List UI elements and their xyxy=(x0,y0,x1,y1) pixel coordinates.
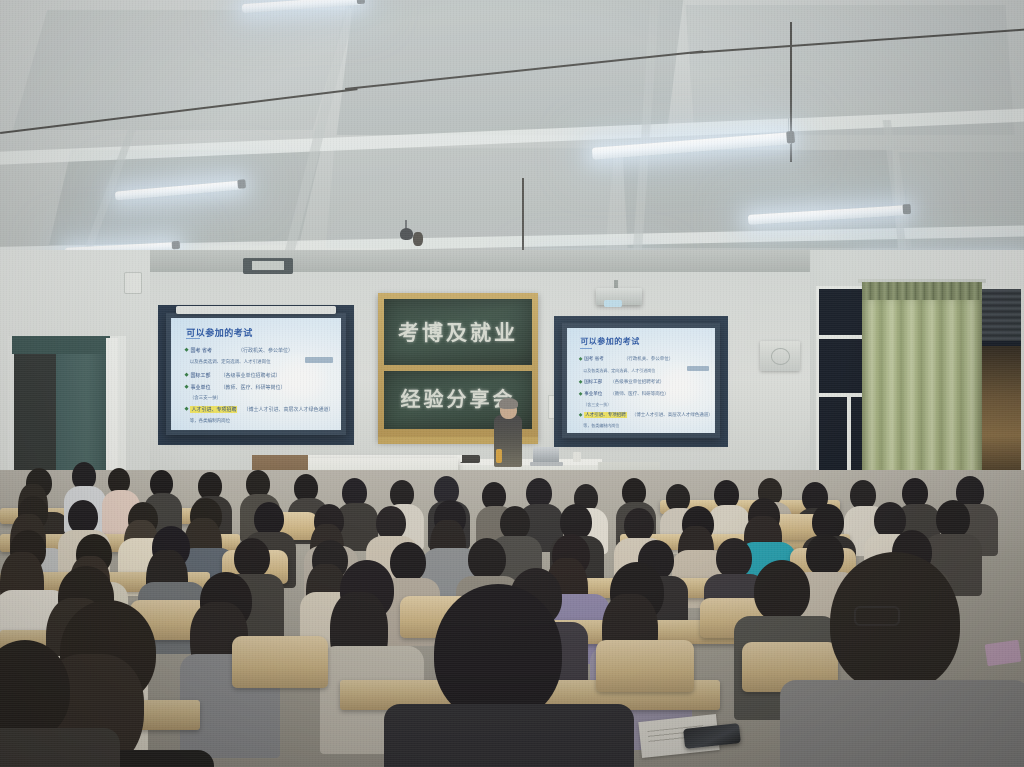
av-equipment-panel xyxy=(252,261,284,270)
presenter-hair xyxy=(499,398,518,409)
left-slide-bullet-2: 以及各类选调、定向选调、人才引进岗位 xyxy=(190,359,271,365)
left-slide-bullet-3: ◆国标工部 （各级事业单位招聘考试） xyxy=(185,372,281,379)
laptop-icon[interactable] xyxy=(533,447,559,463)
glasses-icon xyxy=(854,606,900,626)
desk-device xyxy=(460,455,480,463)
left-slide-bullet-5: （含三支一扶） xyxy=(190,395,222,401)
right-slide-bullet-5: （含三支一扶） xyxy=(583,402,611,408)
bottle-icon xyxy=(496,449,502,463)
lecture-hall-photo: 考博及就业 经验分享会 可以参加的考试 ◆国考 省考 （行政机关、参公单位） 以… xyxy=(0,0,1024,767)
right-slide-bullet-6: ◆人才引进、专项招聘 （博士人才引进、高层次人才绿色通道） xyxy=(579,412,713,418)
door-header xyxy=(12,336,110,354)
chair-back[interactable] xyxy=(232,636,328,688)
laptop-base xyxy=(530,462,563,466)
left-slide-title: 可以参加的考试 xyxy=(186,326,253,339)
blackboard-top-panel: 考博及就业 xyxy=(384,299,532,365)
cup-icon xyxy=(573,452,581,462)
hanging-object xyxy=(413,232,423,246)
tablet-icon[interactable] xyxy=(985,640,1022,667)
window-blind[interactable] xyxy=(981,289,1021,341)
right-slide-bullet-2: 以及各类选调、定向选调、人才引进岗位 xyxy=(583,368,655,374)
curtain[interactable] xyxy=(862,282,982,482)
left-projection-screen[interactable]: 可以参加的考试 ◆国考 省考 （行政机关、参公单位） 以及各类选调、定向选调、人… xyxy=(166,313,346,435)
right-slide-bullet-4: ◆事业单位 （教师、医疗、科研等岗位） xyxy=(579,391,669,397)
left-slide-bullet-7: 等，各类编制内岗位 xyxy=(190,418,231,424)
blackboard-line-1: 考博及就业 xyxy=(384,317,532,347)
ceiling-camera-icon xyxy=(400,228,413,240)
left-screen-roller xyxy=(176,306,336,314)
left-slide-bullet-1: ◆国考 省考 （行政机关、参公单位） xyxy=(185,347,293,354)
speaker-cone-icon xyxy=(771,348,790,365)
right-slide-bullet-7: 等，各类编制内岗位 xyxy=(583,423,619,429)
right-slide-bullet-3: ◆国标工部 （各级事业单位招聘考试） xyxy=(579,379,664,385)
wall-clock xyxy=(124,272,142,294)
right-slide-bullet-1: ◆国考 省考 （行政机关、参公单位） xyxy=(579,356,673,362)
left-slide-bullet-6: ◆人才引进、专项招聘 （博士人才引进、高层次人才绿色通道） xyxy=(185,406,334,413)
window-exterior-light xyxy=(981,346,1021,474)
curtain-header xyxy=(862,282,982,300)
right-projection-screen[interactable]: 可以参加的考试 ◆国考 省考 （行政机关、参公单位） 以及各类选调、定向选调、人… xyxy=(562,323,720,438)
projector-lens-icon xyxy=(604,300,622,307)
left-slide-bullet-4: ◆事业单位 （教师、医疗、科研等岗位） xyxy=(185,384,286,391)
right-slide-title: 可以参加的考试 xyxy=(580,336,640,347)
chair-back[interactable] xyxy=(596,640,694,692)
